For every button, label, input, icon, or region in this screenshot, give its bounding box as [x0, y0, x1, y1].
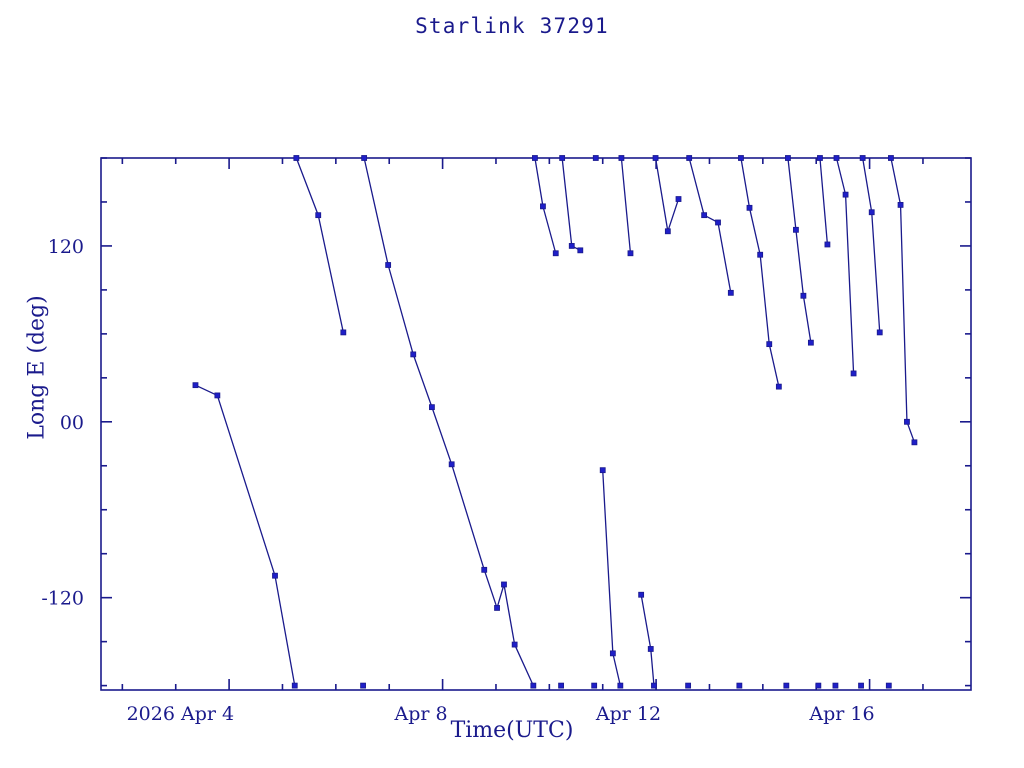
data-point-marker: [501, 582, 506, 587]
x-tick-label: Apr 12: [595, 703, 661, 725]
data-point-marker: [859, 683, 864, 688]
data-point-marker: [886, 683, 891, 688]
data-point-marker: [665, 229, 670, 234]
axis-tick-labels: 12000-1202026 Apr 4Apr 8Apr 12Apr 16: [41, 236, 874, 725]
data-point-marker: [559, 683, 564, 688]
y-tick-label: 120: [48, 236, 84, 258]
data-point-marker: [482, 567, 487, 572]
data-point-marker: [808, 340, 813, 345]
data-point-marker: [686, 683, 691, 688]
data-point-marker: [341, 330, 346, 335]
data-point-marker: [860, 156, 865, 161]
data-point-marker: [569, 243, 574, 248]
data-point-marker: [877, 330, 882, 335]
data-point-marker: [825, 242, 830, 247]
data-point-marker: [904, 419, 909, 424]
data-point-marker: [592, 683, 597, 688]
data-point-marker: [362, 156, 367, 161]
data-point-marker: [785, 156, 790, 161]
series-segment: [689, 158, 731, 293]
series-segment: [820, 158, 827, 244]
series-segment: [837, 158, 854, 373]
data-point-marker: [816, 683, 821, 688]
plot-canvas: Starlink 37291 Long E (deg) Time(UTC) 12…: [0, 0, 1024, 768]
data-point-marker: [888, 156, 893, 161]
data-point-marker: [869, 210, 874, 215]
data-point-marker: [273, 573, 278, 578]
series-segment: [788, 158, 811, 343]
data-point-marker: [639, 592, 644, 597]
data-point-marker: [648, 646, 653, 651]
data-point-marker: [851, 371, 856, 376]
data-point-marker: [618, 683, 623, 688]
data-point-marker: [193, 383, 198, 388]
data-point-marker: [737, 683, 742, 688]
data-point-marker: [651, 683, 656, 688]
data-point-marker: [361, 683, 366, 688]
data-point-marker: [767, 342, 772, 347]
series-segment: [296, 158, 343, 332]
data-point-marker: [784, 683, 789, 688]
data-point-marker: [817, 156, 822, 161]
axis-ticks: [101, 158, 971, 690]
data-point-marker: [540, 204, 545, 209]
series-segment: [891, 158, 914, 442]
data-series-longitude: [195, 158, 914, 686]
data-point-marker: [610, 651, 615, 656]
series-segment: [562, 158, 580, 250]
data-point-marker: [495, 605, 500, 610]
data-point-marker: [292, 683, 297, 688]
series-segment: [863, 158, 880, 332]
data-point-marker: [801, 293, 806, 298]
series-segment: [195, 385, 294, 685]
data-point-marker: [833, 683, 838, 688]
series-segment: [364, 158, 533, 686]
series-segment: [741, 158, 779, 387]
data-point-marker: [593, 156, 598, 161]
data-point-marker: [578, 248, 583, 253]
data-point-marker: [316, 213, 321, 218]
data-point-marker: [294, 156, 299, 161]
data-point-marker: [738, 156, 743, 161]
series-segment: [656, 158, 679, 231]
data-point-marker: [747, 205, 752, 210]
plot-frame: [101, 158, 971, 690]
data-point-marker: [532, 156, 537, 161]
data-point-marker: [600, 468, 605, 473]
data-point-marker: [843, 192, 848, 197]
data-point-marker: [793, 227, 798, 232]
data-point-marker: [512, 642, 517, 647]
data-point-marker: [531, 683, 536, 688]
data-point-marker: [653, 156, 658, 161]
chart-svg: 12000-1202026 Apr 4Apr 8Apr 12Apr 16: [0, 0, 1024, 768]
data-point-marker: [687, 156, 692, 161]
data-markers: [193, 156, 917, 689]
data-point-marker: [676, 197, 681, 202]
series-segment: [621, 158, 630, 253]
data-point-marker: [215, 393, 220, 398]
x-tick-label: Apr 8: [393, 703, 447, 725]
data-point-marker: [619, 156, 624, 161]
y-tick-label: 00: [60, 412, 84, 434]
y-tick-label: -120: [41, 588, 84, 610]
data-point-marker: [912, 440, 917, 445]
data-point-marker: [758, 252, 763, 257]
data-point-marker: [553, 251, 558, 256]
data-point-marker: [386, 262, 391, 267]
series-segment: [641, 595, 654, 686]
data-point-marker: [898, 202, 903, 207]
data-point-marker: [429, 405, 434, 410]
x-tick-label: 2026 Apr 4: [127, 703, 235, 725]
data-point-marker: [702, 213, 707, 218]
data-point-marker: [449, 462, 454, 467]
data-point-marker: [411, 352, 416, 357]
x-tick-label: Apr 16: [808, 703, 874, 725]
data-point-marker: [776, 384, 781, 389]
data-point-marker: [834, 156, 839, 161]
data-point-marker: [560, 156, 565, 161]
data-point-marker: [628, 251, 633, 256]
data-point-marker: [716, 220, 721, 225]
data-point-marker: [728, 290, 733, 295]
